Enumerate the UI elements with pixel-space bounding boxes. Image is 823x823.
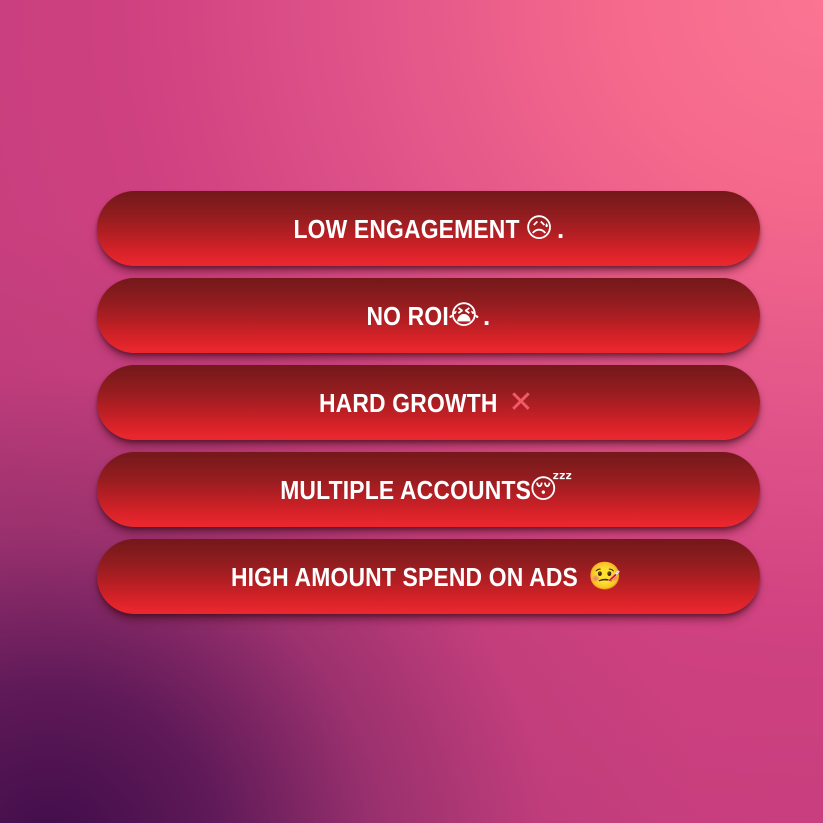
pill-label: NO ROI 😭 . xyxy=(367,302,491,329)
face-with-thermometer-emoji: 🤒 xyxy=(588,563,622,590)
pill-text: LOW ENGAGEMENT xyxy=(293,216,519,242)
pill-text: MULTIPLE ACCOUNTS xyxy=(280,477,531,503)
pill-tail-punctuation: . xyxy=(483,303,490,329)
pill-multiple-accounts[interactable]: MULTIPLE ACCOUNTS 😴 xyxy=(97,452,760,527)
sleeping-face-emoji: 😴 xyxy=(530,476,574,503)
pill-label: HIGH AMOUNT SPEND ON ADS 🤒 xyxy=(231,563,626,590)
pain-point-pill-list: LOW ENGAGEMENT 😥 . NO ROI 😭 . HARD GROWT… xyxy=(97,191,760,614)
cross-mark-icon: ✕ xyxy=(508,388,533,418)
loudly-crying-face-emoji: 😭 xyxy=(448,302,480,329)
pill-tail-punctuation: . xyxy=(557,216,564,242)
pill-hard-growth[interactable]: HARD GROWTH ✕ xyxy=(97,365,760,440)
sad-but-relieved-face-emoji: 😥 xyxy=(525,215,553,242)
pill-label: HARD GROWTH ✕ xyxy=(319,388,538,418)
pill-text: HIGH AMOUNT SPEND ON ADS xyxy=(231,564,578,590)
pill-label: MULTIPLE ACCOUNTS 😴 xyxy=(280,476,576,503)
pill-label: LOW ENGAGEMENT 😥 . xyxy=(293,215,564,242)
slide-canvas: LOW ENGAGEMENT 😥 . NO ROI 😭 . HARD GROWT… xyxy=(0,0,823,823)
pill-no-roi[interactable]: NO ROI 😭 . xyxy=(97,278,760,353)
pill-low-engagement[interactable]: LOW ENGAGEMENT 😥 . xyxy=(97,191,760,266)
pill-high-amount-spend-on-ads[interactable]: HIGH AMOUNT SPEND ON ADS 🤒 xyxy=(97,539,760,614)
pill-text: HARD GROWTH xyxy=(319,390,498,416)
pill-text: NO ROI xyxy=(367,303,449,329)
